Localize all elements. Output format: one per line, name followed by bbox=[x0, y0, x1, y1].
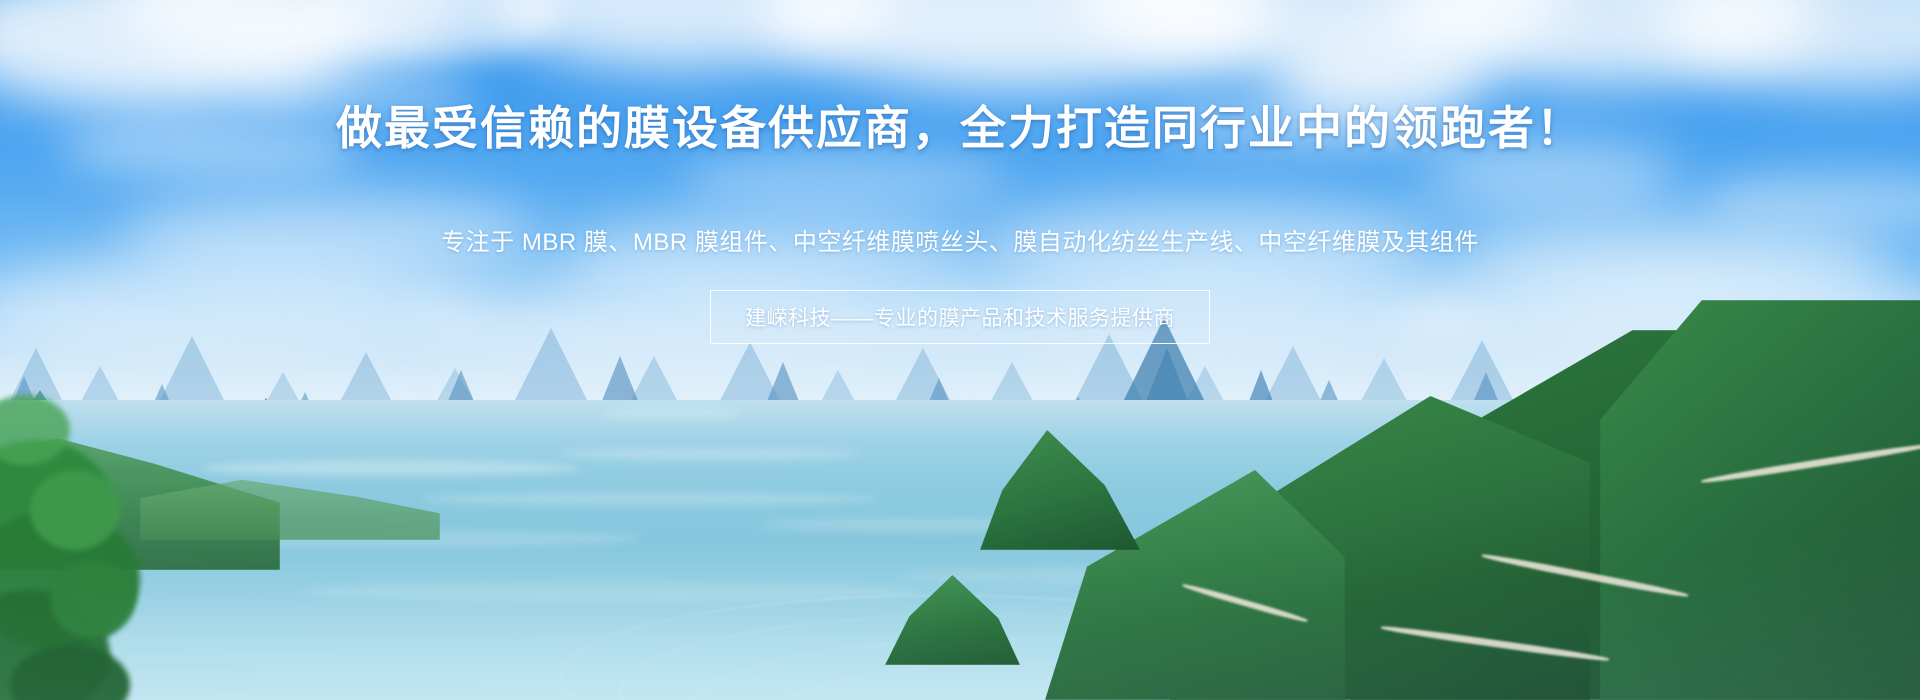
banner-subline: 专注于 MBR 膜、MBR 膜组件、中空纤维膜喷丝头、膜自动化纺丝生产线、中空纤… bbox=[0, 222, 1920, 257]
banner-tagline-text: 建嵘科技——专业的膜产品和技术服务提供商 bbox=[745, 302, 1175, 332]
banner-tagline-box: 建嵘科技——专业的膜产品和技术服务提供商 bbox=[710, 290, 1210, 344]
hero-banner: 做最受信赖的膜设备供应商，全力打造同行业中的领跑者！ 专注于 MBR 膜、MBR… bbox=[0, 0, 1920, 700]
banner-headline: 做最受信赖的膜设备供应商，全力打造同行业中的领跑者！ bbox=[0, 103, 1920, 154]
